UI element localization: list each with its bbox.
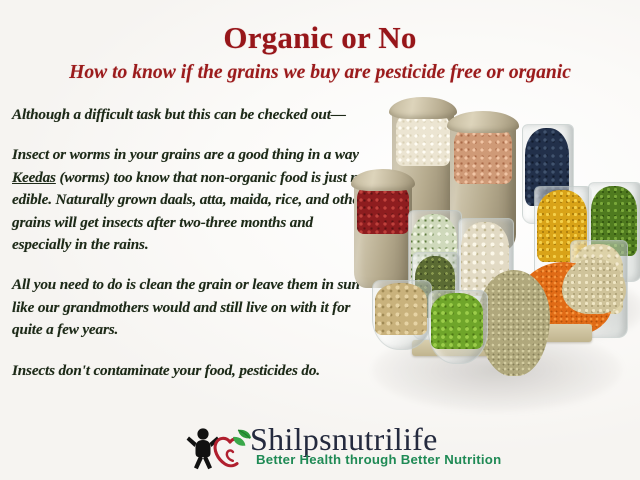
page-title: Organic or No [0,21,640,55]
paragraph-1: Although a difficult task but this can b… [12,104,372,126]
bowl-green-peas [428,290,486,362]
grain-fill [375,283,426,335]
paragraph-2-text: Insect or worms in your grains are a goo… [12,146,370,253]
grains-photo [366,92,640,422]
paragraph-3: All you need to do is clean the grain or… [12,274,372,341]
sack-cuff [389,97,457,119]
bowl-chickpeas [372,280,430,348]
page-subtitle: How to know if the grains we buy are pes… [0,61,640,85]
grain-fill [431,293,482,349]
pile-sesame [562,258,626,314]
logo-mark [186,426,258,470]
article-body: Although a difficult task but this can b… [12,104,372,382]
leaf-icon [233,430,251,446]
pile-millet [478,270,550,376]
sack-red-kidney-beans [354,176,412,288]
brand-tagline: Better Health through Better Nutrition [256,452,501,467]
apple-core-icon [227,450,233,460]
emphasized-term: Keedas [12,169,56,186]
sack-cuff [447,111,520,133]
poster-canvas: Organic or No How to know if the grains … [0,0,640,480]
paragraph-2: Insect or worms in your grains are a goo… [12,144,372,256]
paragraph-4: Insects don't contaminate your food, pes… [12,360,372,382]
brand-logo: Shilpsnutrilife Better Health through Be… [186,424,530,474]
brand-wordmark: Shilpsnutrilife [250,422,438,456]
